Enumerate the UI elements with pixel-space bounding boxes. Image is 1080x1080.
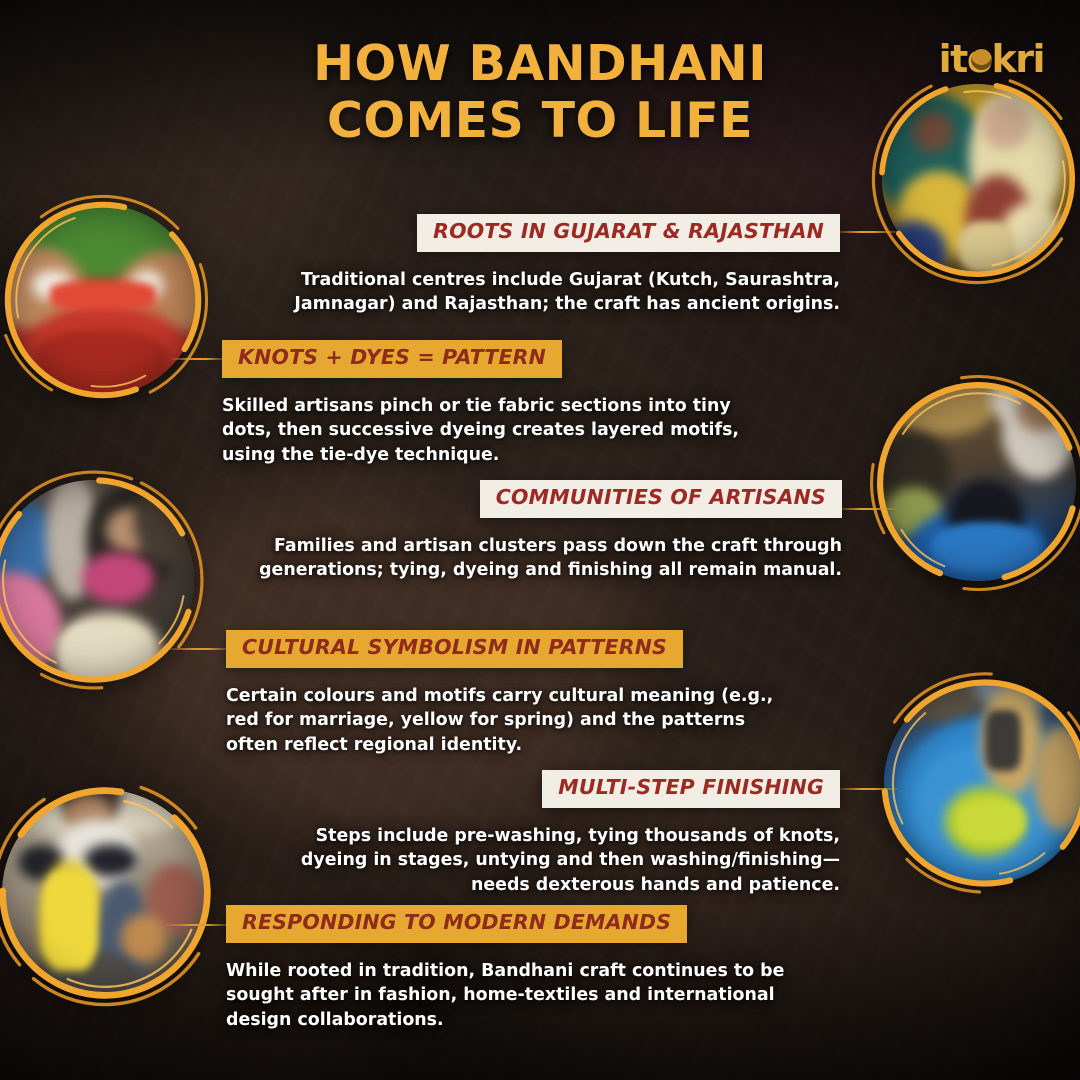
- section-body-communities: Families and artisan clusters pass down …: [242, 534, 842, 583]
- section-heading-communities: COMMUNITIES OF ARTISANS: [480, 480, 842, 518]
- section-heading-row: RESPONDING TO MODERN DEMANDS: [226, 905, 786, 943]
- photo-hands-tying-red-cloth: [8, 205, 198, 395]
- section-cultural-symbolism: CULTURAL SYMBOLISM IN PATTERNS Certain c…: [226, 630, 786, 758]
- title-line-1: HOW BANDHANI: [0, 36, 1080, 93]
- brand-logo[interactable]: itokri: [939, 40, 1044, 78]
- section-body-modern-demands: While rooted in tradition, Bandhani craf…: [226, 959, 786, 1033]
- section-communities: COMMUNITIES OF ARTISANS Families and art…: [242, 480, 842, 583]
- section-body-multi-step-finishing: Steps include pre-washing, tying thousan…: [300, 824, 840, 898]
- brand-logo-dot-icon: [971, 49, 992, 70]
- photo-dyer-lifting-yellow-cloth: [2, 790, 208, 996]
- page-title: HOW BANDHANI COMES TO LIFE: [0, 36, 1080, 150]
- section-body-roots: Traditional centres include Gujarat (Kut…: [240, 268, 840, 317]
- title-line-2: COMES TO LIFE: [0, 93, 1080, 150]
- connector-line-modern: [166, 924, 232, 926]
- section-heading-knots-dyes: KNOTS + DYES = PATTERN: [222, 340, 562, 378]
- section-heading-modern-demands: RESPONDING TO MODERN DEMANDS: [226, 905, 687, 943]
- connector-line-cultural: [170, 648, 232, 650]
- infographic-poster: HOW BANDHANI COMES TO LIFE itokri: [0, 0, 1080, 1080]
- photo-disc: [2, 790, 208, 996]
- section-heading-cultural-symbolism: CULTURAL SYMBOLISM IN PATTERNS: [226, 630, 683, 668]
- photo-disc: [8, 205, 198, 395]
- connector-line-communities: [838, 508, 896, 510]
- section-body-knots-dyes: Skilled artisans pinch or tie fabric sec…: [222, 394, 767, 468]
- section-heading-row: KNOTS + DYES = PATTERN: [222, 340, 767, 378]
- section-multi-step-finishing: MULTI-STEP FINISHING Steps include pre-w…: [300, 770, 840, 898]
- section-roots: ROOTS IN GUJARAT & RAJASTHAN Traditional…: [240, 214, 840, 317]
- section-heading-roots: ROOTS IN GUJARAT & RAJASTHAN: [417, 214, 840, 252]
- section-modern-demands: RESPONDING TO MODERN DEMANDS While roote…: [226, 905, 786, 1033]
- photo-dyer-blue-vat: [880, 385, 1076, 581]
- photo-disc: [0, 480, 194, 680]
- section-heading-row: MULTI-STEP FINISHING: [300, 770, 840, 808]
- connector-line-multistep: [838, 788, 898, 790]
- section-heading-row: COMMUNITIES OF ARTISANS: [242, 480, 842, 518]
- photo-disc: [884, 682, 1080, 884]
- photo-disc: [880, 385, 1076, 581]
- photo-dipping-yellow-into-blue-dye: [884, 682, 1080, 884]
- section-heading-row: ROOTS IN GUJARAT & RAJASTHAN: [240, 214, 840, 252]
- photo-woman-knotting-cream-cloth: [0, 480, 194, 680]
- section-body-cultural-symbolism: Certain colours and motifs carry cultura…: [226, 684, 786, 758]
- section-heading-multi-step-finishing: MULTI-STEP FINISHING: [542, 770, 840, 808]
- connector-line-knots: [172, 358, 228, 360]
- section-heading-row: CULTURAL SYMBOLISM IN PATTERNS: [226, 630, 786, 668]
- section-knots-dyes: KNOTS + DYES = PATTERN Skilled artisans …: [222, 340, 767, 468]
- connector-line-roots: [836, 231, 898, 233]
